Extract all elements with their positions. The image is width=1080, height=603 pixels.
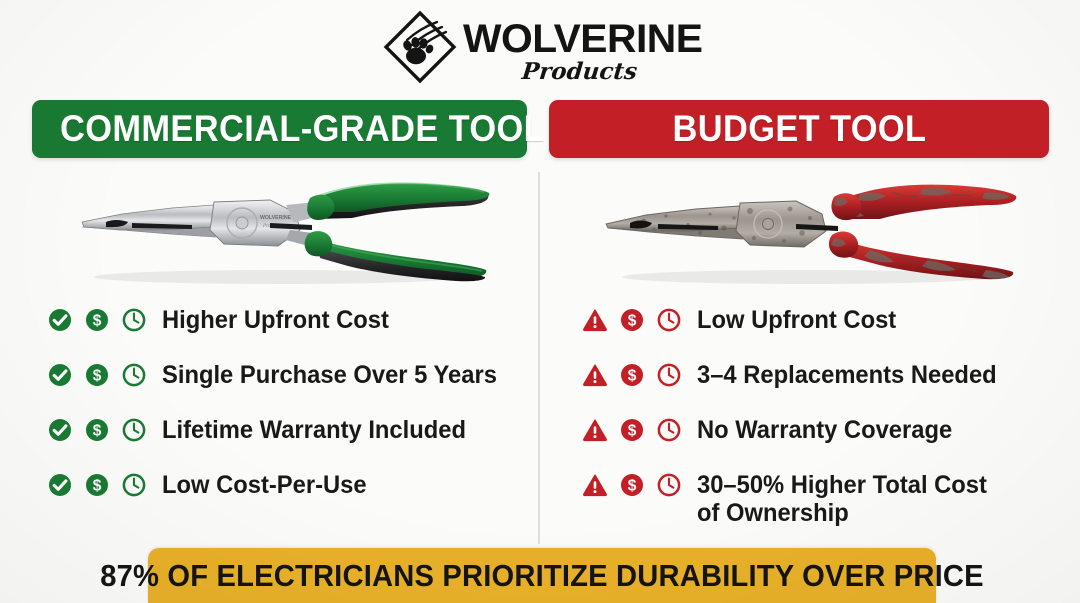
feature-label: Low Cost-Per-Use	[162, 470, 367, 499]
list-item: $ Low Cost-Per-Use	[48, 470, 518, 518]
column-divider	[538, 172, 540, 544]
bad-icon-group: $	[583, 360, 681, 387]
bad-icon-group: $	[583, 470, 681, 497]
brand-tagline: Products	[521, 60, 639, 83]
good-icon-group: $	[48, 360, 146, 387]
red-handled-pliers-worn-image	[592, 178, 1022, 286]
commercial-grade-feature-list: $ Higher Upfront Cost	[48, 305, 518, 525]
clock-circle-icon	[122, 473, 146, 497]
warning-triangle-icon	[583, 473, 607, 497]
brand-logo: WOLVERINE Products	[0, 6, 1080, 92]
warning-triangle-icon	[583, 308, 607, 332]
dollar-circle-icon: $	[85, 308, 109, 332]
clock-circle-icon	[657, 473, 681, 497]
infographic-page: WOLVERINE Products COMMERCIAL-GRADE TOOL…	[0, 0, 1080, 603]
dollar-circle-icon: $	[620, 473, 644, 497]
feature-label: Higher Upfront Cost	[162, 305, 389, 334]
green-handled-pliers-clean-image: WOLVERINE Products	[64, 178, 494, 286]
dollar-circle-icon: $	[620, 363, 644, 387]
budget-tool-feature-list: $ Low Upfront Cost	[583, 305, 1053, 545]
stat-banner: 87% OF ELECTRICIANS PRIORITIZE DURABILIT…	[148, 548, 936, 603]
check-circle-icon	[48, 473, 72, 497]
bad-icon-group: $	[583, 415, 681, 442]
dollar-circle-icon: $	[620, 418, 644, 442]
good-icon-group: $	[48, 470, 146, 497]
dollar-circle-icon: $	[620, 308, 644, 332]
feature-label: Lifetime Warranty Included	[162, 415, 466, 444]
svg-text:$: $	[93, 368, 102, 385]
feature-label: Low Upfront Cost	[697, 305, 896, 334]
budget-tool-header: BUDGET TOOL	[549, 100, 1049, 158]
check-circle-icon	[48, 308, 72, 332]
brand-name: WOLVERINE	[463, 19, 702, 59]
check-circle-icon	[48, 418, 72, 442]
check-circle-icon	[48, 363, 72, 387]
wolverine-paw-diamond-logo-icon	[383, 10, 457, 84]
list-item: $ Single Purchase Over 5 Years	[48, 360, 518, 408]
list-item: $ Lifetime Warranty Included	[48, 415, 518, 463]
svg-text:$: $	[93, 478, 102, 495]
list-item: $ Low Upfront Cost	[583, 305, 1053, 353]
clock-circle-icon	[122, 418, 146, 442]
feature-label: 3–4 Replacements Needed	[697, 360, 997, 389]
warning-triangle-icon	[583, 418, 607, 442]
good-icon-group: $	[48, 305, 146, 332]
list-item: $ Higher Upfront Cost	[48, 305, 518, 353]
svg-text:$: $	[628, 423, 637, 440]
svg-text:$: $	[628, 368, 637, 385]
clock-circle-icon	[122, 308, 146, 332]
svg-text:$: $	[628, 478, 637, 495]
budget-tool-title: BUDGET TOOL	[672, 108, 926, 150]
svg-text:WOLVERINE: WOLVERINE	[260, 215, 292, 221]
feature-label: No Warranty Coverage	[697, 415, 952, 444]
dollar-circle-icon: $	[85, 363, 109, 387]
warning-triangle-icon	[583, 363, 607, 387]
good-icon-group: $	[48, 415, 146, 442]
svg-text:$: $	[93, 423, 102, 440]
commercial-grade-header: COMMERCIAL-GRADE TOOL	[32, 100, 527, 158]
dollar-circle-icon: $	[85, 473, 109, 497]
clock-circle-icon	[657, 308, 681, 332]
svg-text:$: $	[93, 313, 102, 330]
svg-text:$: $	[628, 313, 637, 330]
bad-icon-group: $	[583, 305, 681, 332]
dollar-circle-icon: $	[85, 418, 109, 442]
stat-banner-text: 87% OF ELECTRICIANS PRIORITIZE DURABILIT…	[100, 558, 984, 594]
list-item: $ 3–4 Replacements Needed	[583, 360, 1053, 408]
list-item: $ No Warranty Coverage	[583, 415, 1053, 463]
feature-label: 30–50% Higher Total Cost of Ownership	[697, 470, 987, 527]
list-item: $ 30–50% Higher Total Cost of Ownership	[583, 470, 1053, 538]
clock-circle-icon	[657, 363, 681, 387]
feature-label: Single Purchase Over 5 Years	[162, 360, 497, 389]
commercial-grade-title: COMMERCIAL-GRADE TOOL	[60, 108, 545, 150]
clock-circle-icon	[122, 363, 146, 387]
clock-circle-icon	[657, 418, 681, 442]
